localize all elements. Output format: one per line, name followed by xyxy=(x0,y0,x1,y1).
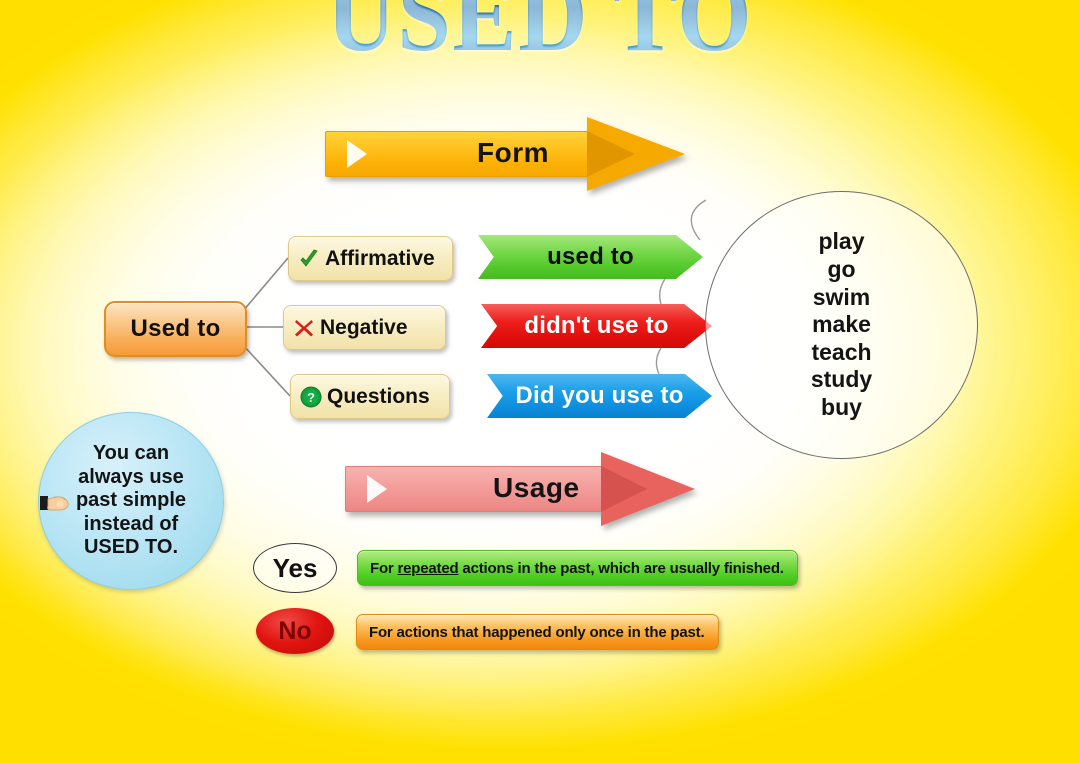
play-triangle-icon xyxy=(347,140,367,168)
usage-marker-no: No xyxy=(256,608,334,654)
form-ribbon-negative[interactable]: didn't use to xyxy=(481,304,712,348)
type-box-affirmative[interactable]: Affirmative xyxy=(288,236,453,281)
form-ribbon-affirmative[interactable]: used to xyxy=(478,235,703,279)
pointing-hand-icon xyxy=(40,488,74,516)
page-title: USED TO xyxy=(43,0,1037,68)
diagram-canvas: USED TO Form Usage Used to Affirmative xyxy=(0,0,1080,763)
verb-examples-circle: play go swim make teach study buy xyxy=(705,191,978,459)
usage-label: Usage xyxy=(493,472,580,504)
form-arrow-bevel xyxy=(587,131,635,177)
usage-marker-yes: Yes xyxy=(253,543,337,593)
usage-statement-yes-text: For repeated actions in the past, which … xyxy=(370,560,784,577)
usage-marker-yes-label: Yes xyxy=(273,553,318,584)
type-box-negative[interactable]: Negative xyxy=(283,305,446,350)
svg-text:?: ? xyxy=(307,390,315,405)
play-triangle-icon xyxy=(367,475,387,503)
usage-section-arrow[interactable]: Usage xyxy=(345,452,695,526)
tip-text: You can always use past simple instead o… xyxy=(76,442,186,560)
used-to-node-label: Used to xyxy=(130,315,220,343)
used-to-node[interactable]: Used to xyxy=(104,301,247,357)
type-label-affirmative: Affirmative xyxy=(325,247,435,271)
usage-statement-no: For actions that happened only once in t… xyxy=(356,614,719,650)
type-label-questions: Questions xyxy=(327,385,430,409)
usage-statement-yes: For repeated actions in the past, which … xyxy=(357,550,798,586)
form-ribbon-label-negative: didn't use to xyxy=(524,312,668,340)
green-question-icon: ? xyxy=(300,386,322,408)
usage-statement-no-text: For actions that happened only once in t… xyxy=(369,624,704,641)
form-section-arrow[interactable]: Form xyxy=(325,117,685,191)
red-x-icon xyxy=(293,317,315,339)
form-label: Form xyxy=(477,137,549,169)
type-label-negative: Negative xyxy=(320,316,408,340)
usage-marker-no-label: No xyxy=(278,617,311,646)
form-ribbon-label-question: Did you use to xyxy=(515,382,683,410)
type-box-questions[interactable]: ? Questions xyxy=(290,374,450,419)
green-check-icon xyxy=(298,248,320,270)
verb-examples-list: play go swim make teach study buy xyxy=(811,228,872,421)
usage-arrow-bevel xyxy=(601,466,647,512)
form-ribbon-question[interactable]: Did you use to xyxy=(487,374,712,418)
form-ribbon-label-affirmative: used to xyxy=(547,243,634,271)
